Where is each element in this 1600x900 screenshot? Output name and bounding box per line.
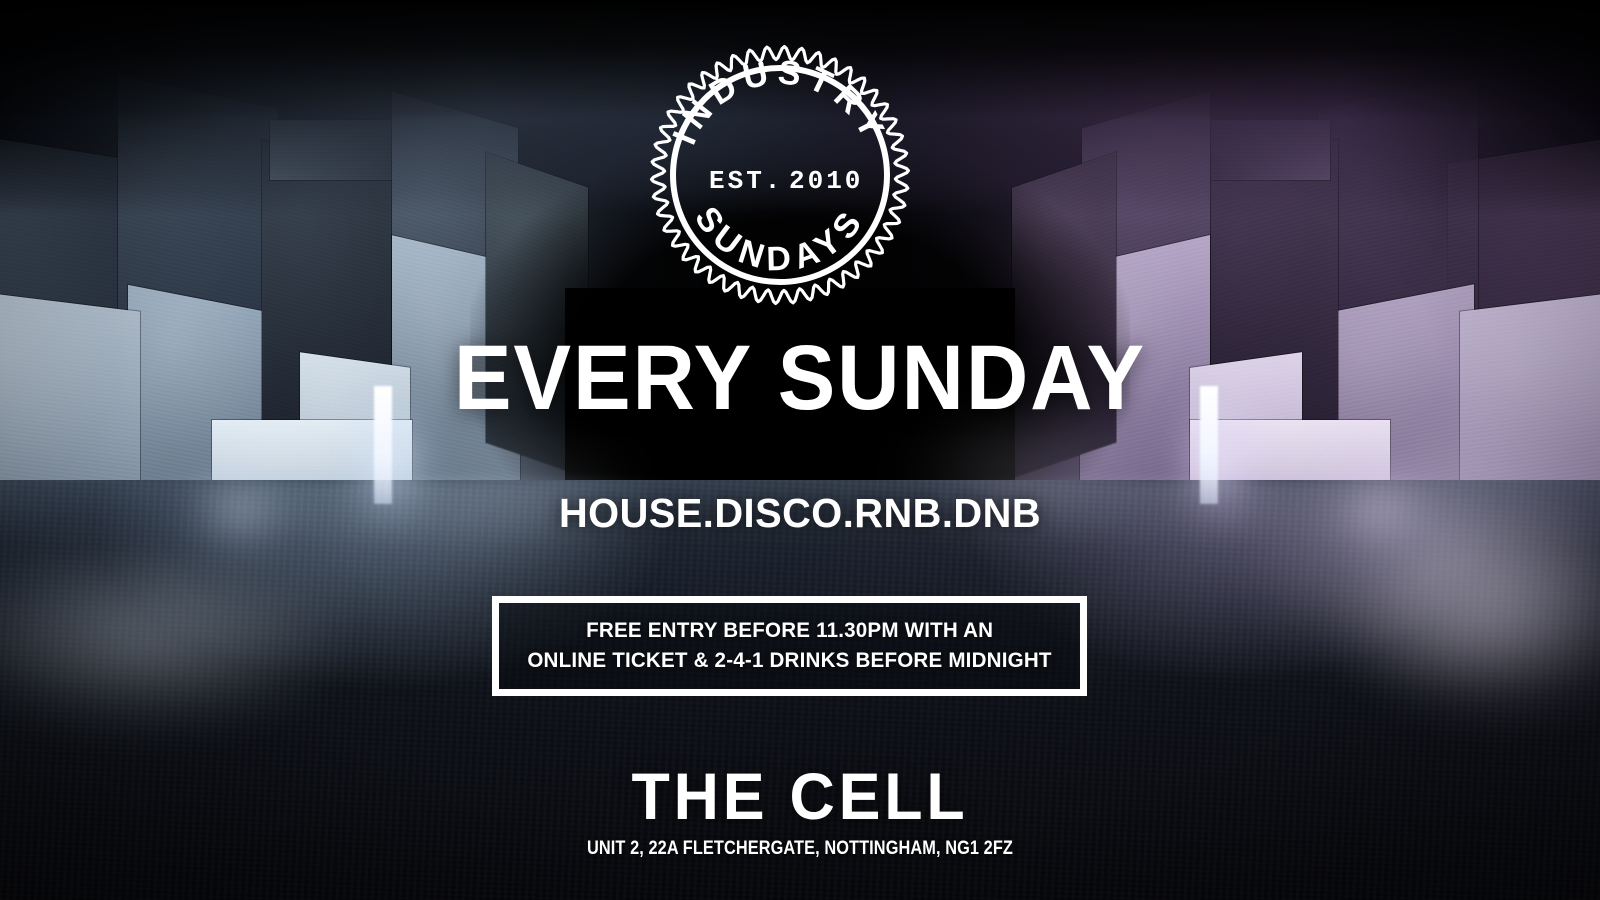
logo-bottom-arc-text: SUNDAYS xyxy=(687,200,873,278)
offer-box: FREE ENTRY BEFORE 11.30PM WITH AN ONLINE… xyxy=(492,596,1087,696)
logo-top-arc-text: INDUSTRY xyxy=(665,53,894,150)
offer-line-1: FREE ENTRY BEFORE 11.30PM WITH AN xyxy=(586,616,993,646)
page-title: EVERY SUNDAY xyxy=(48,332,1552,424)
offer-line-2: ONLINE TICKET & 2-4-1 DRINKS BEFORE MIDN… xyxy=(527,646,1051,676)
industry-sundays-logo: INDUSTRY SUNDAYS EST. 2010 xyxy=(649,44,911,306)
venue-address: UNIT 2, 22A FLETCHERGATE, NOTTINGHAM, NG… xyxy=(112,838,1488,860)
venue-name: THE CELL xyxy=(40,763,1560,829)
genres-line: HOUSE.DISCO.RNB.DNB xyxy=(24,490,1576,537)
logo-established-year: 2010 xyxy=(789,166,863,196)
event-flyer: INDUSTRY SUNDAYS EST. 2010 EVERY SUNDAY … xyxy=(0,0,1600,900)
logo-established-label: EST. xyxy=(709,166,783,196)
